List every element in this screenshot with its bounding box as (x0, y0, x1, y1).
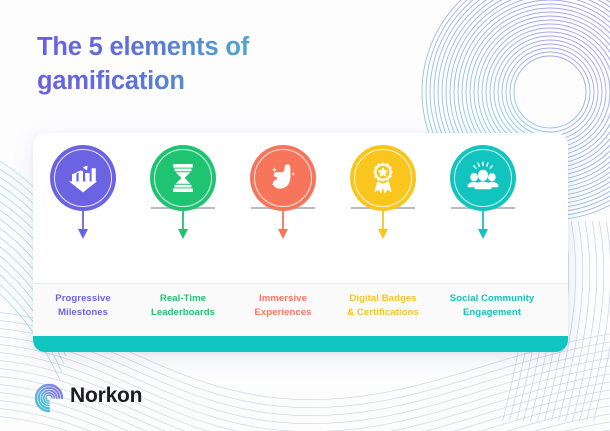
card-icon-area (33, 133, 568, 283)
steps-row (33, 133, 568, 283)
infographic-canvas: The 5 elements of gamification (0, 0, 610, 431)
label-social-community-engagement: Social Community Engagement (424, 292, 560, 319)
page-title: The 5 elements of gamification (37, 31, 367, 98)
step-2-down-arrow (176, 211, 190, 241)
norkon-spiral-icon (33, 382, 65, 414)
card-label-area: Progressive Milestones Real-Time Leaderb… (33, 284, 568, 336)
step-4-down-arrow (376, 211, 390, 241)
card-accent-bar (33, 336, 568, 352)
growth-bar-chart-icon (63, 158, 103, 198)
pinch-hand-sparkle-icon (263, 158, 303, 198)
step-5-circle[interactable] (450, 145, 516, 211)
step-1-circle[interactable] (50, 145, 116, 211)
page-title-line-2: gamification (37, 65, 367, 99)
step-social-community-engagement[interactable] (433, 133, 533, 283)
step-progressive-milestones[interactable] (33, 133, 133, 283)
hourglass-icon (163, 158, 203, 198)
labels-row: Progressive Milestones Real-Time Leaderb… (33, 284, 568, 336)
elements-card: Progressive Milestones Real-Time Leaderb… (33, 133, 568, 352)
page-title-line-1: The 5 elements of (37, 31, 367, 65)
step-1-down-arrow (76, 211, 90, 241)
step-2-circle[interactable] (150, 145, 216, 211)
brand-name: Norkon (70, 384, 142, 408)
step-3-down-arrow (276, 211, 290, 241)
label-5-line-1: Social Community (424, 292, 560, 306)
step-real-time-leaderboards[interactable] (133, 133, 233, 283)
step-5-down-arrow (476, 211, 490, 241)
step-3-circle[interactable] (250, 145, 316, 211)
award-ribbon-star-icon (363, 158, 403, 198)
community-people-icon (463, 158, 503, 198)
label-5-line-2: Engagement (424, 306, 560, 320)
step-4-circle[interactable] (350, 145, 416, 211)
step-digital-badges-certifications[interactable] (333, 133, 433, 283)
step-immersive-experiences[interactable] (233, 133, 333, 283)
